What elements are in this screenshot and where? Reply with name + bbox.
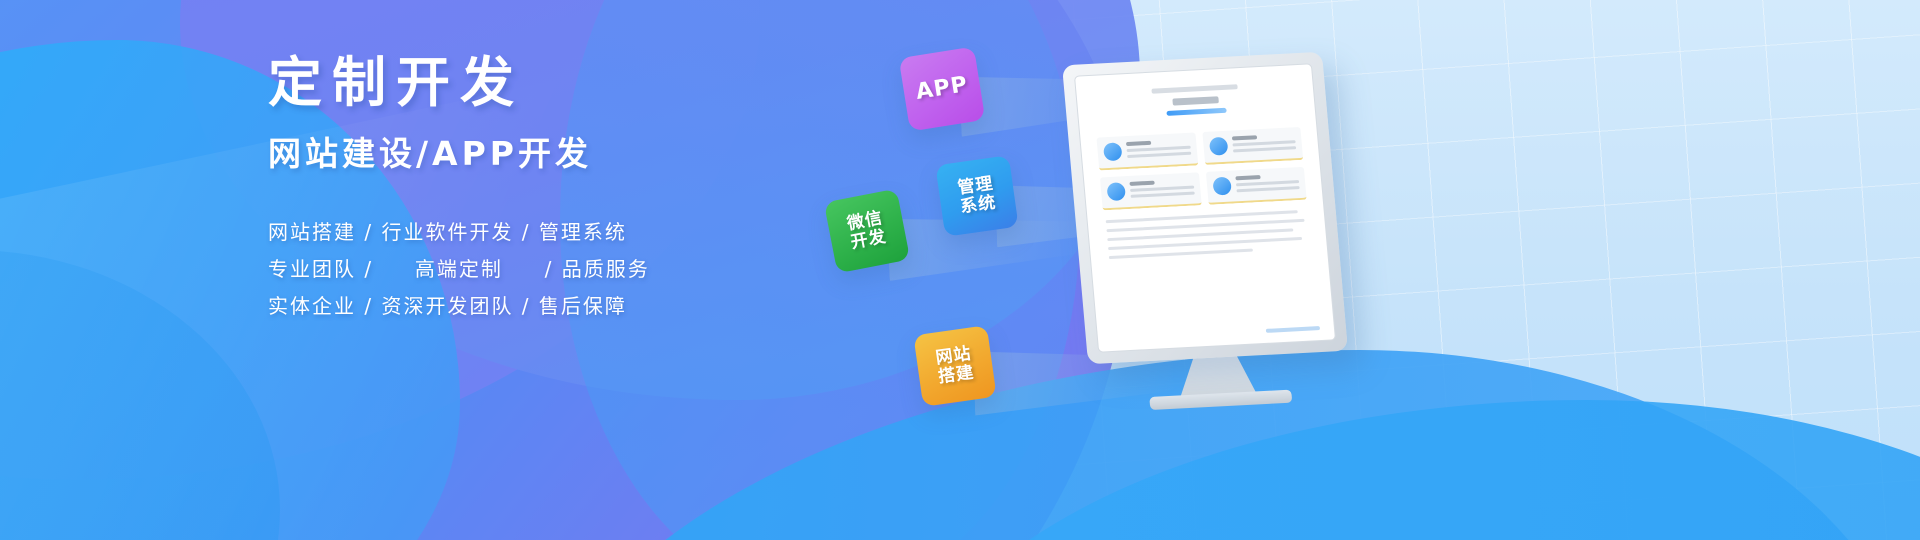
website-building-card-icon[interactable]: 网站 搭建 — [913, 325, 996, 407]
app-card-icon[interactable]: APP — [899, 47, 986, 132]
screen-cell-icon — [1208, 137, 1228, 156]
wechat-development-card-icon[interactable]: 微信 开发 — [824, 189, 910, 274]
website-card-line-2: 搭建 — [937, 363, 975, 387]
screen-cell-text — [1126, 139, 1191, 161]
feature-line-3: 实体企业 / 资深开发团队 / 售后保障 — [268, 288, 968, 325]
promo-banner: 定制开发 网站建设/APP开发 网站搭建 / 行业软件开发 / 管理系统 专业团… — [0, 0, 1920, 540]
screen-cell-icon — [1212, 177, 1232, 196]
screen-header-subline — [1151, 84, 1237, 93]
screen-cell-icon — [1106, 182, 1126, 201]
app-card-line-1: APP — [914, 73, 969, 106]
screen-body-text — [1087, 205, 1327, 270]
screen-header-accent-rule — [1166, 108, 1226, 116]
screen-grid-cell — [1202, 127, 1303, 165]
screen-cell-text — [1129, 179, 1194, 201]
wechat-card-line-2: 开发 — [849, 228, 888, 254]
screen-grid-cell — [1205, 167, 1306, 205]
management-system-card-icon[interactable]: 管理 系统 — [935, 155, 1018, 237]
copy-block: 定制开发 网站建设/APP开发 网站搭建 / 行业软件开发 / 管理系统 专业团… — [268, 55, 968, 325]
screen-footer-accent — [1266, 326, 1320, 333]
screen-grid-cell — [1100, 172, 1201, 210]
screen-cell-icon — [1103, 142, 1123, 161]
banner-subtitle: 网站建设/APP开发 — [268, 136, 968, 172]
screen-feature-grid — [1080, 116, 1324, 217]
banner-title: 定制开发 — [268, 55, 968, 112]
screen-cell-text — [1231, 133, 1296, 155]
screen-cell-text — [1235, 173, 1300, 195]
monitor-screen — [1074, 63, 1336, 352]
screen-grid-cell — [1096, 132, 1197, 170]
screen-header-title — [1172, 96, 1219, 105]
desktop-monitor — [1062, 52, 1348, 364]
management-card-line-2: 系统 — [959, 193, 997, 217]
